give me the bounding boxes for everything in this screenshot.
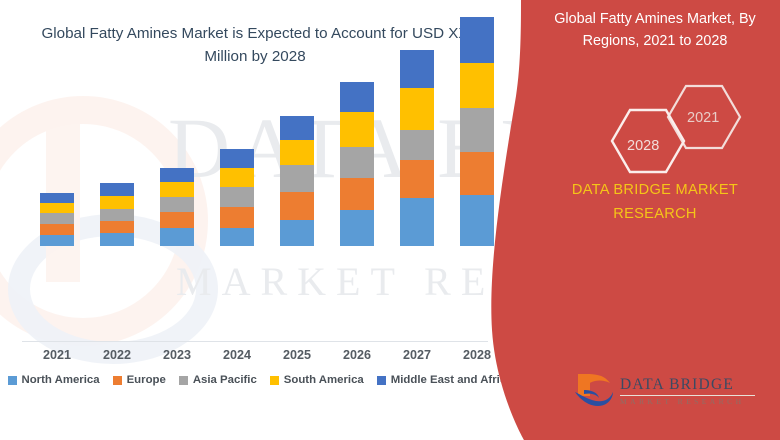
bar-segment-europe (400, 160, 434, 198)
x-axis-label-2024: 2024 (207, 348, 267, 362)
bar-segment-south-america (220, 168, 254, 187)
hexagon-group: 2021 2028 (546, 78, 776, 178)
bar-segment-south-america (100, 196, 134, 209)
brand-name-line1: DATA BRIDGE MARKET (536, 178, 774, 202)
x-axis-label-2026: 2026 (327, 348, 387, 362)
bar-segment-asia-pacific (280, 165, 314, 192)
bar-segment-asia-pacific (100, 209, 134, 221)
hexagon-2028-label: 2028 (627, 138, 659, 154)
bar-segment-north-america (160, 228, 194, 246)
bar-segment-asia-pacific (40, 213, 74, 224)
bar-segment-middle-east-and-africa (160, 168, 194, 182)
logo-title: DATA BRIDGE (620, 376, 770, 393)
bar-segment-asia-pacific (220, 187, 254, 207)
legend-swatch-icon (8, 376, 17, 385)
bar-segment-south-america (460, 63, 494, 108)
chart-panel: Global Fatty Amines Market is Expected t… (0, 0, 530, 440)
bar-segment-middle-east-and-africa (460, 17, 494, 63)
data-bridge-b-mark-icon (572, 370, 616, 414)
bar-segment-north-america (400, 198, 434, 246)
bar-segment-north-america (460, 195, 494, 246)
bar-segment-middle-east-and-africa (340, 82, 374, 112)
logo-subtitle: MARKET RESEARCH (620, 397, 770, 406)
bar-segment-north-america (220, 228, 254, 246)
hexagon-2021-label: 2021 (687, 110, 719, 126)
bar-segment-south-america (340, 112, 374, 147)
bar-segment-north-america (100, 233, 134, 246)
bar-segment-south-america (280, 140, 314, 165)
legend-item-asia-pacific[interactable]: Asia Pacific (179, 374, 257, 386)
bar-2025 (280, 116, 314, 246)
bar-segment-europe (100, 221, 134, 233)
x-axis-label-2022: 2022 (87, 348, 147, 362)
bar-segment-middle-east-and-africa (220, 149, 254, 168)
bar-segment-europe (40, 224, 74, 235)
infographic-slide: DATA BRIDGE MARKET RESEARCH Global Fatty… (0, 0, 780, 440)
bar-2026 (340, 82, 374, 246)
bar-2022 (100, 183, 134, 246)
x-axis-line (22, 341, 488, 342)
bar-segment-middle-east-and-africa (40, 193, 74, 203)
right-panel-title: Global Fatty Amines Market, By Regions, … (536, 8, 774, 52)
chart-legend: North AmericaEuropeAsia PacificSouth Ame… (0, 374, 520, 386)
brand-name: DATA BRIDGE MARKET RESEARCH (536, 178, 774, 226)
bar-segment-europe (220, 207, 254, 228)
bar-segment-asia-pacific (400, 130, 434, 160)
bar-segment-north-america (340, 210, 374, 246)
bar-segment-middle-east-and-africa (100, 183, 134, 196)
bar-segment-middle-east-and-africa (280, 116, 314, 140)
bar-2023 (160, 168, 194, 246)
bar-segment-europe (340, 178, 374, 210)
x-axis-label-2027: 2027 (387, 348, 447, 362)
bar-2028 (460, 17, 494, 246)
legend-swatch-icon (113, 376, 122, 385)
legend-swatch-icon (377, 376, 386, 385)
bar-segment-asia-pacific (160, 197, 194, 212)
x-axis-label-2025: 2025 (267, 348, 327, 362)
plot-area: 20212022202320242025202620272028 (0, 0, 530, 345)
bar-segment-europe (160, 212, 194, 228)
hexagon-2021-icon (546, 78, 776, 178)
brand-name-line2: RESEARCH (536, 202, 774, 226)
bar-segment-middle-east-and-africa (400, 50, 434, 88)
x-axis-label-2023: 2023 (147, 348, 207, 362)
legend-label: Europe (127, 374, 166, 386)
bar-segment-europe (460, 152, 494, 195)
logo-divider (620, 395, 755, 396)
bar-segment-south-america (400, 88, 434, 130)
bar-segment-south-america (160, 182, 194, 197)
x-axis-label-2028: 2028 (447, 348, 507, 362)
bar-2024 (220, 149, 254, 246)
bar-segment-europe (280, 192, 314, 220)
company-logo: DATA BRIDGE MARKET RESEARCH (572, 368, 772, 420)
bar-segment-north-america (280, 220, 314, 246)
legend-label: Asia Pacific (193, 374, 257, 386)
right-panel-content: Global Fatty Amines Market, By Regions, … (530, 0, 780, 440)
legend-label: South America (284, 374, 364, 386)
bar-segment-asia-pacific (340, 147, 374, 178)
legend-item-europe[interactable]: Europe (113, 374, 166, 386)
legend-item-south-america[interactable]: South America (270, 374, 364, 386)
bar-segment-north-america (40, 235, 74, 246)
legend-item-north-america[interactable]: North America (8, 374, 100, 386)
legend-item-middle-east-and-africa[interactable]: Middle East and Africa (377, 374, 513, 386)
legend-swatch-icon (179, 376, 188, 385)
bar-segment-south-america (40, 203, 74, 213)
legend-label: North America (22, 374, 100, 386)
bar-segment-asia-pacific (460, 108, 494, 152)
bar-2027 (400, 50, 434, 246)
bar-2021 (40, 193, 74, 246)
legend-label: Middle East and Africa (391, 374, 513, 386)
logo-text-block: DATA BRIDGE MARKET RESEARCH (620, 376, 770, 406)
legend-swatch-icon (270, 376, 279, 385)
x-axis-label-2021: 2021 (27, 348, 87, 362)
